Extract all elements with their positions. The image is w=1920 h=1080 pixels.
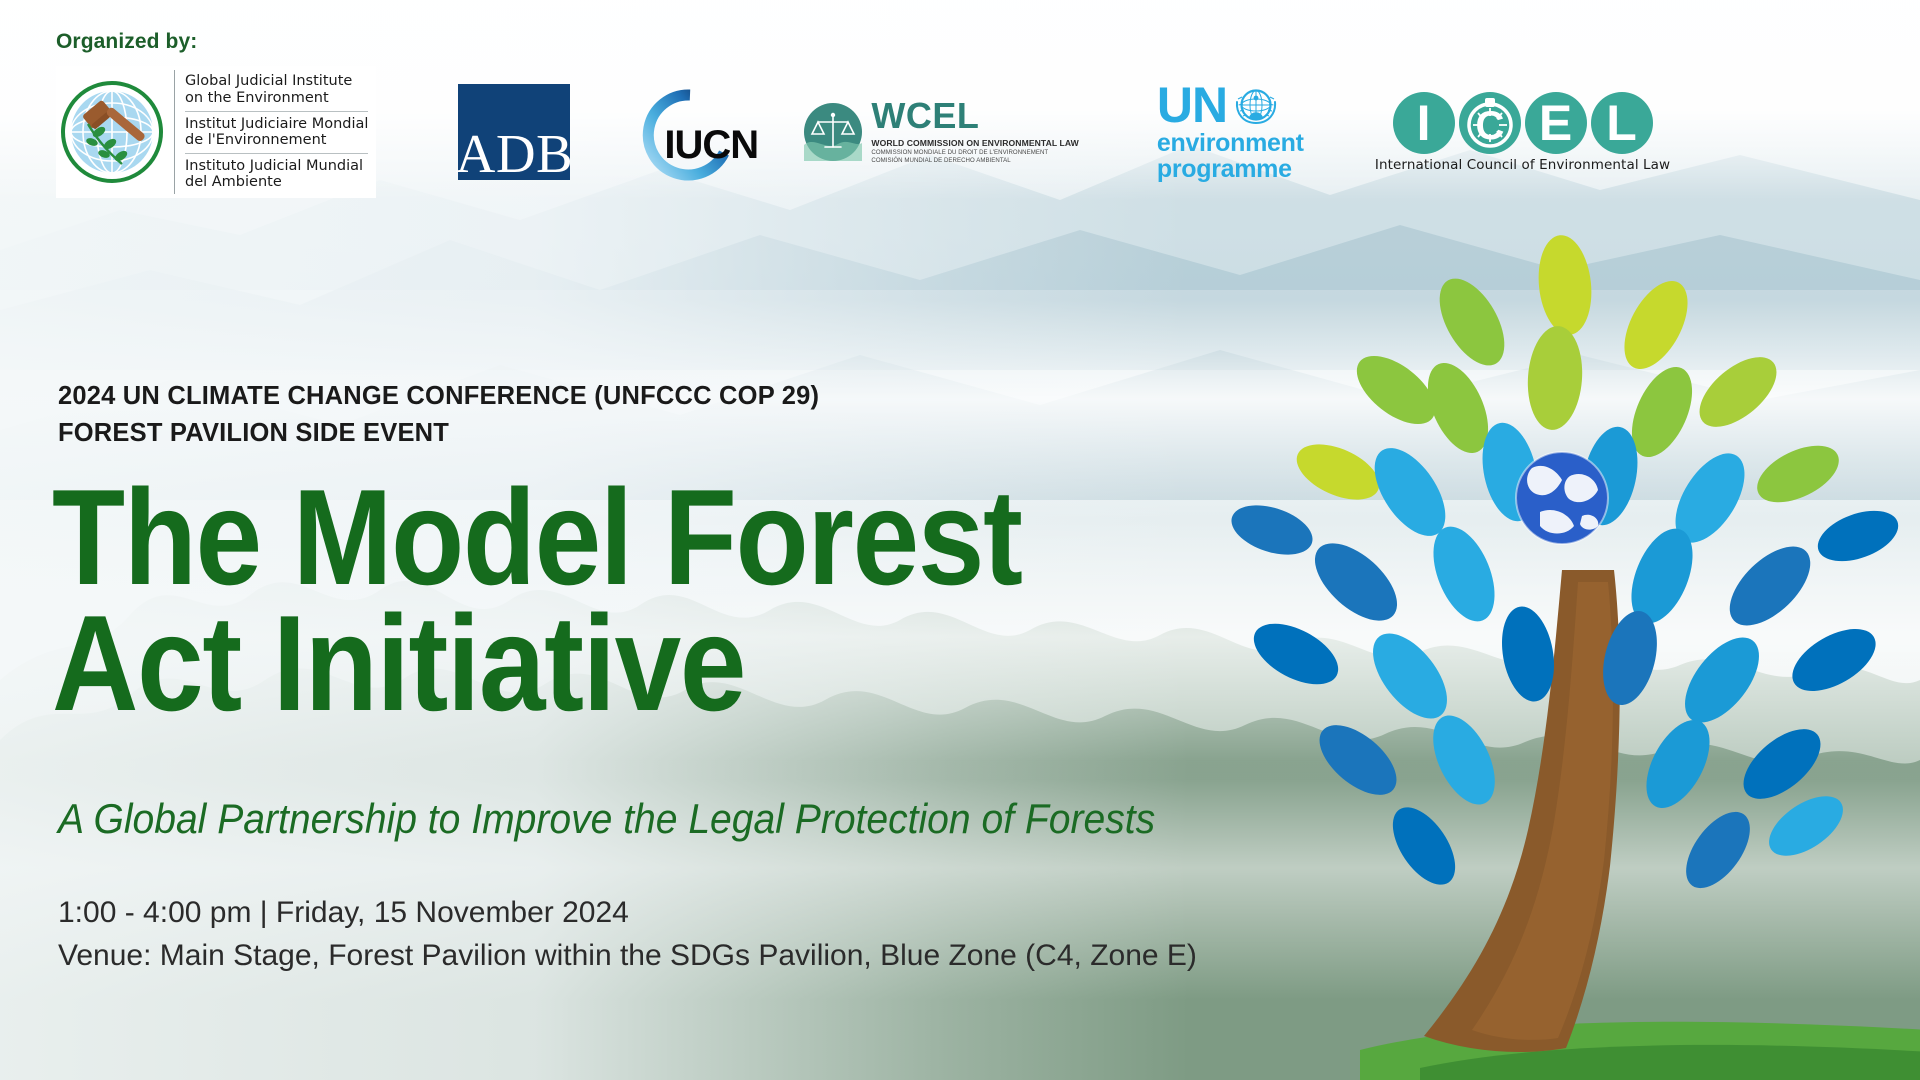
event-venue: Venue: Main Stage, Forest Pavilion withi… (58, 935, 1197, 978)
unep-un-label: UN (1157, 84, 1227, 127)
logo-iucn[interactable]: IUCN (642, 87, 762, 177)
wcel-subtitle-en: WORLD COMMISSION ON ENVIRONMENTAL LAW (871, 138, 1078, 149)
gjie-name-fr: Institut Judiciaire Mondialde l'Environn… (185, 111, 368, 151)
icel-letter-circles: I C E L (1393, 92, 1653, 154)
unep-environment-label: environment (1157, 130, 1304, 156)
adb-label: ADB (456, 129, 574, 180)
title-line-2: Act Initiative (52, 600, 1022, 726)
icel-letter-l: L (1591, 92, 1653, 154)
wcel-label: WCEL (871, 98, 1078, 134)
unep-programme-label: programme (1157, 156, 1304, 182)
icel-letter-i: I (1393, 92, 1455, 154)
eyebrow-line-2: FOREST PAVILION SIDE EVENT (58, 415, 819, 452)
page-title: The Model Forest Act Initiative (52, 474, 1022, 727)
gjie-name-en: Global Judicial Instituteon the Environm… (185, 70, 368, 108)
title-line-1: The Model Forest (52, 474, 1022, 600)
un-emblem-icon (1233, 82, 1279, 128)
icel-letter-e: E (1525, 92, 1587, 154)
icel-letter-c: C (1459, 92, 1521, 154)
icel-subtitle: International Council of Environmental L… (1375, 157, 1670, 173)
eyebrow-line-1: 2024 UN CLIMATE CHANGE CONFERENCE (UNFCC… (58, 378, 819, 415)
organizer-logo-strip: Global Judicial Instituteon the Environm… (56, 78, 1670, 186)
globe-icon (1516, 452, 1608, 544)
tree-of-life-illustration (1210, 230, 1920, 1080)
event-details: 1:00 - 4:00 pm | Friday, 15 November 202… (58, 892, 1197, 977)
scales-of-justice-icon (804, 103, 862, 161)
logo-gjie[interactable]: Global Judicial Instituteon the Environm… (56, 66, 376, 197)
organized-by-label: Organized by: (56, 30, 197, 54)
globe-gavel-icon (60, 80, 164, 184)
wcel-subtitle-es: COMISIÓN MUNDIAL DE DERECHO AMBIENTAL (871, 157, 1078, 165)
svg-text:C: C (1475, 104, 1504, 148)
event-banner: Organized by: (0, 0, 1920, 1080)
unep-top-row: UN (1157, 82, 1304, 128)
logo-adb[interactable]: ADB (458, 84, 570, 180)
event-time: 1:00 - 4:00 pm | Friday, 15 November 202… (58, 892, 1197, 935)
logo-unep[interactable]: UN (1157, 82, 1317, 182)
logo-wcel[interactable]: WCEL WORLD COMMISSION ON ENVIRONMENTAL L… (804, 98, 1078, 165)
wcel-subtitle-fr: COMMISSION MONDIALE DU DROIT DE L'ENVIRO… (871, 149, 1078, 157)
gjie-names: Global Judicial Instituteon the Environm… (174, 70, 368, 193)
logo-icel[interactable]: I C E L (1375, 92, 1670, 173)
event-subtitle: A Global Partnership to Improve the Lega… (58, 795, 1155, 843)
wcel-text: WCEL WORLD COMMISSION ON ENVIRONMENTAL L… (871, 98, 1078, 165)
adb-wordmark: ADB (458, 84, 570, 180)
event-eyebrow: 2024 UN CLIMATE CHANGE CONFERENCE (UNFCC… (58, 378, 819, 451)
gjie-name-es: Instituto Judicial Mundialdel Ambiente (185, 153, 368, 193)
iucn-label: IUCN (664, 123, 758, 168)
